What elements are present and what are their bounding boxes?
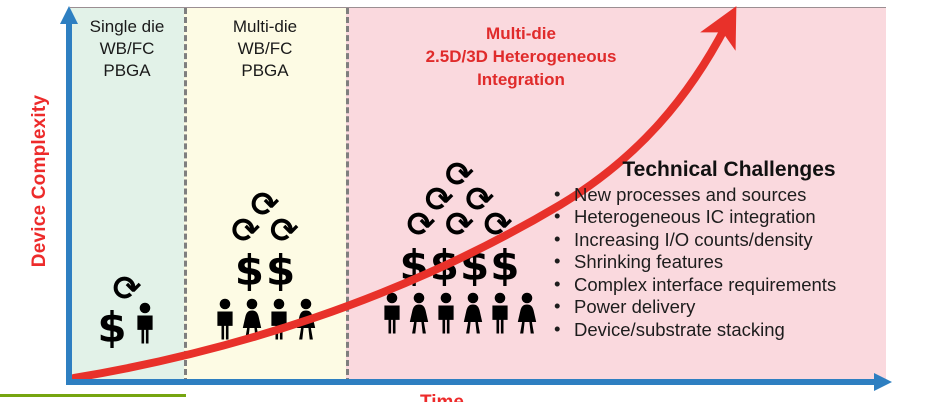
list-item: •New processes and sources bbox=[548, 184, 888, 206]
list-item: •Shrinking features bbox=[548, 251, 888, 273]
dollar-sign-icon: $ bbox=[400, 245, 429, 287]
recycle-arrow-icon: ⟳ bbox=[445, 208, 474, 242]
zone-title-line: PBGA bbox=[70, 60, 184, 82]
dollar-sign-icon: $ bbox=[266, 250, 295, 292]
person-man-icon bbox=[488, 292, 512, 339]
person-man-icon bbox=[213, 298, 237, 345]
y-axis-line bbox=[66, 22, 72, 385]
list-item-label: Shrinking features bbox=[574, 251, 723, 272]
x-axis-label: Time bbox=[420, 392, 464, 402]
footer-green-rule bbox=[0, 394, 186, 397]
person-man-icon bbox=[267, 298, 291, 345]
recycle-arrow-icon: ⟳ bbox=[232, 214, 261, 248]
zone-title-single-die: Single die WB/FC PBGA bbox=[70, 16, 184, 81]
recycle-arrow-icon: ⟳ bbox=[407, 208, 436, 242]
zone-title-line: WB/FC bbox=[70, 38, 184, 60]
icon-cluster-single-die: ⟳ $ bbox=[70, 272, 184, 349]
dollar-sign-icon: $ bbox=[430, 245, 459, 287]
zone-title-line: Single die bbox=[70, 16, 184, 38]
bullet-icon: • bbox=[554, 250, 560, 272]
bullet-icon: • bbox=[554, 318, 560, 340]
x-axis-line bbox=[66, 379, 878, 385]
complexity-vs-time-diagram: Single die WB/FC PBGA Multi-die WB/FC PB… bbox=[0, 0, 946, 402]
zone-title-line: WB/FC bbox=[184, 38, 346, 60]
list-item: •Heterogeneous IC integration bbox=[548, 206, 888, 228]
bullet-icon: • bbox=[554, 183, 560, 205]
recycle-arrow-icon: ⟳ bbox=[270, 214, 299, 248]
y-axis-label: Device Complexity bbox=[29, 81, 51, 281]
bullet-icon: • bbox=[554, 228, 560, 250]
list-item-label: Device/substrate stacking bbox=[574, 319, 785, 340]
list-item: •Increasing I/O counts/density bbox=[548, 229, 888, 251]
list-item-label: Complex interface requirements bbox=[574, 274, 836, 295]
dollar-sign-icon: $ bbox=[460, 245, 489, 287]
list-item-label: Power delivery bbox=[574, 296, 695, 317]
person-man-icon bbox=[380, 292, 404, 339]
list-item-label: Heterogeneous IC integration bbox=[574, 206, 816, 227]
recycle-arrow-icon: ⟳ bbox=[484, 208, 513, 242]
person-woman-icon bbox=[240, 298, 264, 345]
icon-cluster-heterogeneous: ⟳ ⟳ ⟳ ⟳ ⟳ ⟳ $ $ $ $ bbox=[372, 158, 547, 339]
axis-arrow-up-icon bbox=[60, 6, 78, 24]
list-item-label: Increasing I/O counts/density bbox=[574, 229, 813, 250]
zone-title-line: PBGA bbox=[184, 60, 346, 82]
dollar-sign-icon: $ bbox=[235, 250, 264, 292]
person-man-icon bbox=[434, 292, 458, 339]
plot-top-border bbox=[70, 7, 886, 8]
person-woman-icon bbox=[461, 292, 485, 339]
technical-challenges-list: •New processes and sources •Heterogeneou… bbox=[548, 184, 888, 341]
bullet-icon: • bbox=[554, 205, 560, 227]
zone-divider-2 bbox=[346, 8, 349, 384]
zone-title-line: Multi-die bbox=[356, 22, 686, 45]
axis-arrow-right-icon bbox=[874, 373, 892, 391]
list-item-label: New processes and sources bbox=[574, 184, 806, 205]
list-item: •Complex interface requirements bbox=[548, 274, 888, 296]
technical-challenges-panel: Technical Challenges •New processes and … bbox=[548, 158, 888, 341]
zone-title-heterogeneous: Multi-die 2.5D/3D Heterogeneous Integrat… bbox=[356, 22, 686, 91]
technical-challenges-title: Technical Challenges bbox=[548, 158, 888, 182]
zone-title-multi-die: Multi-die WB/FC PBGA bbox=[184, 16, 346, 81]
recycle-arrow-icon: ⟳ bbox=[113, 272, 142, 306]
zone-title-line: Multi-die bbox=[184, 16, 346, 38]
person-man-icon bbox=[133, 302, 157, 349]
bullet-icon: • bbox=[554, 295, 560, 317]
person-woman-icon bbox=[407, 292, 431, 339]
list-item: •Power delivery bbox=[548, 296, 888, 318]
person-woman-icon bbox=[515, 292, 539, 339]
bullet-icon: • bbox=[554, 273, 560, 295]
list-item: •Device/substrate stacking bbox=[548, 319, 888, 341]
icon-cluster-multi-die: ⟳ ⟳ ⟳ $ $ bbox=[190, 188, 340, 345]
person-woman-icon bbox=[294, 298, 318, 345]
zone-title-line: 2.5D/3D Heterogeneous bbox=[356, 45, 686, 68]
dollar-sign-icon: $ bbox=[97, 307, 126, 349]
zone-title-line: Integration bbox=[356, 68, 686, 91]
dollar-sign-icon: $ bbox=[490, 245, 519, 287]
